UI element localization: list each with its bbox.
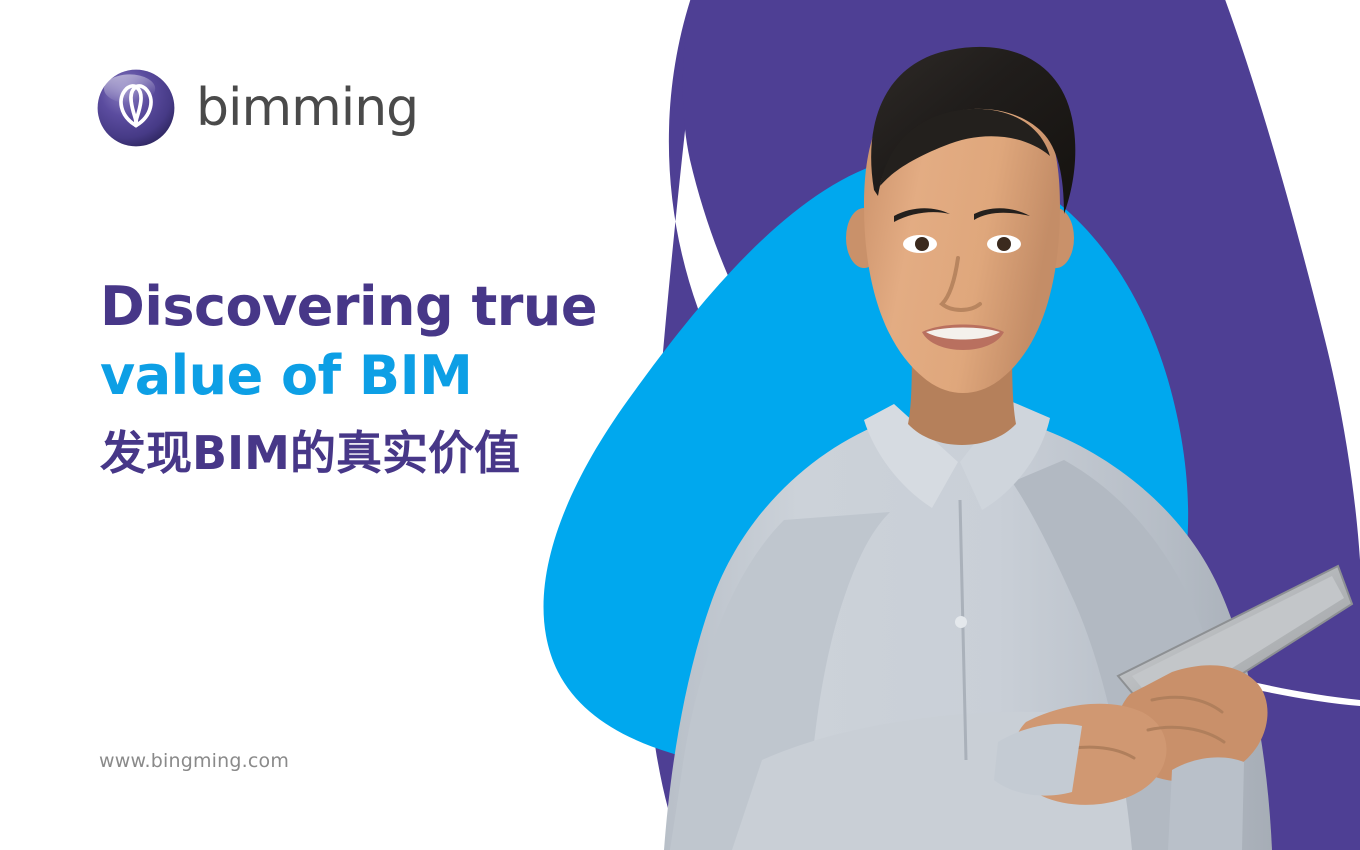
website-url[interactable]: www.bingming.com [99,750,289,772]
portrait-photo [612,0,1360,850]
headline-line-2: value of BIM [100,341,620,410]
headline-block: Discovering true value of BIM 发现BIM的真实价值 [100,272,620,484]
figure-pupil-left [915,237,929,251]
shirt-cuff-right [1168,757,1244,850]
bimming-sphere-logo-icon [96,68,176,148]
brand-logo-lockup[interactable]: bimming [96,68,418,148]
figure-pupil-right [997,237,1011,251]
headline-line-1: Discovering true [100,272,620,341]
shirt-button [955,616,967,628]
brand-wordmark: bimming [196,82,418,134]
promotional-slide: bimming Discovering true value of BIM 发现… [0,0,1360,850]
headline-chinese: 发现BIM的真实价值 [100,424,620,484]
